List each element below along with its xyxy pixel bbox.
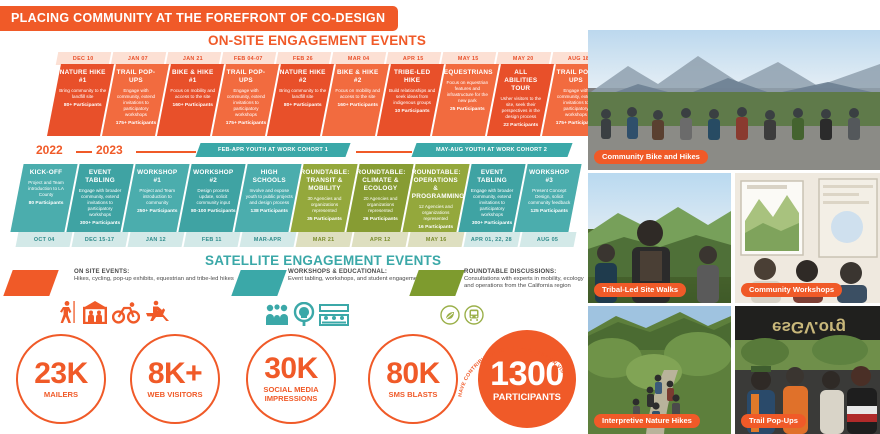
legend-heading-roundtable: ROUNDTABLE DISCUSSIONS: bbox=[464, 268, 590, 275]
satellite-date-label: MAY 16 bbox=[426, 237, 447, 243]
stat-label: PARTICIPANTS bbox=[493, 393, 561, 402]
event-card-description: Bring community to the landfill site bbox=[279, 88, 326, 100]
photo-community-bike-and-hikes: Community Bike and Hikes bbox=[588, 30, 880, 170]
satellite-date-chip: FEB 11 bbox=[184, 232, 241, 247]
stat-number: 8K+ bbox=[148, 359, 202, 389]
event-card-participants: 175+ Participants bbox=[222, 121, 269, 126]
stat-number: 30K bbox=[264, 354, 318, 384]
stat-circle: 23KMAILERS bbox=[16, 334, 106, 424]
photo-caption-3: Community Workshops bbox=[741, 283, 842, 298]
event-card-description: Bring community to the landfill site bbox=[59, 88, 106, 100]
stat-number: 80K bbox=[386, 359, 440, 389]
satellite-date-chip: APR 12 bbox=[352, 232, 409, 247]
hiker-icon bbox=[58, 300, 78, 324]
event-card-title: ALL ABILITIES TOUR bbox=[497, 69, 544, 93]
event-card-title: HIGH SCHOOLS bbox=[245, 169, 293, 185]
photo-gallery: Community Bike and Hikes Tribal-Led Site… bbox=[588, 30, 880, 434]
satellite-date-chip: MAR 21 bbox=[296, 232, 353, 247]
satellite-date-label: APR 12 bbox=[370, 237, 391, 243]
event-card-title: ROUNDTABLE: TRANSIT & MOBILITY bbox=[300, 169, 348, 193]
event-card-description: Design process update, solicit community… bbox=[189, 188, 237, 206]
event-card-participants: 160+ Participants bbox=[334, 103, 381, 108]
event-card-title: EQUESTRIANS bbox=[444, 69, 491, 77]
legend-swatch-roundtable bbox=[409, 270, 464, 296]
bicycle-icon bbox=[112, 302, 140, 324]
photo-caption-1: Community Bike and Hikes bbox=[594, 150, 708, 165]
onsite-date-label: MAR 04 bbox=[348, 56, 370, 62]
year-cohort-strip: 2022 2023 FEB-APR YOUTH AT WORK COHORT 1… bbox=[36, 142, 582, 160]
legend-body-roundtable: Consultations with experts in mobility, … bbox=[464, 276, 590, 291]
year-start-label: 2022 bbox=[36, 143, 63, 157]
event-card-participants: 300+ Participants bbox=[468, 221, 516, 226]
stat-circle: 8K+WEB VISITORS bbox=[130, 334, 220, 424]
event-card-title: TRIBE-LED HIKE bbox=[389, 69, 436, 85]
workshops-icon-strip bbox=[265, 302, 349, 326]
onsite-date-label: MAY 15 bbox=[458, 56, 479, 62]
onsite-date-label: DEC 10 bbox=[73, 56, 94, 62]
event-card-description: Project and Team introduction to LA Coun… bbox=[22, 180, 70, 198]
classroom-icon bbox=[319, 304, 349, 326]
event-card-description: Engage with broader community, extend in… bbox=[468, 188, 516, 218]
cohort-badge-1: FEB-APR YOUTH AT WORK COHORT 1 bbox=[195, 143, 350, 157]
event-card-participants: 35 Participants bbox=[300, 217, 348, 222]
photo-caption-5: Trail Pop-Ups bbox=[741, 414, 806, 429]
event-card-participants: 138 Participants bbox=[245, 209, 293, 214]
svg-text:esGV.org: esGV.org bbox=[772, 318, 846, 337]
stat-number: 1300 bbox=[490, 357, 564, 391]
stat-label: SOCIAL MEDIA IMPRESSIONS bbox=[248, 386, 334, 403]
event-card-description: Focus on mobility and access to the site bbox=[334, 88, 381, 100]
cohort-label-1: FEB-APR YOUTH AT WORK COHORT 1 bbox=[218, 147, 328, 153]
satellite-date-chip: DEC 15-17 bbox=[72, 232, 129, 247]
year-connector-line-1 bbox=[76, 151, 92, 153]
event-card-participants: 80+ Participants bbox=[279, 103, 326, 108]
satellite-date-label: JAN 12 bbox=[146, 237, 166, 243]
event-card-participants: 250+ Participants bbox=[133, 209, 181, 214]
stat-label: SMS BLASTS bbox=[389, 391, 438, 400]
timeline-panel: ON-SITE ENGAGEMENT EVENTS SATELLITE ENGA… bbox=[0, 0, 586, 434]
satellite-date-label: MAR 21 bbox=[313, 237, 335, 243]
satellite-event-row: KICK-OFFProject and Team introduction to… bbox=[17, 164, 577, 232]
satellite-date-chip: MAR-APR bbox=[240, 232, 297, 247]
event-card-description: Present Concept Design, solicit communit… bbox=[525, 188, 573, 206]
event-card-title: BIKE & HIKE #1 bbox=[169, 69, 216, 85]
event-card-participants: 22 Participants bbox=[497, 123, 544, 128]
event-card-participants: 300+ Participants bbox=[76, 221, 124, 226]
event-card-participants: 80+ Participants bbox=[59, 103, 106, 108]
onsite-date-label: MAY 20 bbox=[513, 56, 534, 62]
stat-label: WEB VISITORS bbox=[147, 391, 202, 400]
onsite-date-label: JAN 07 bbox=[128, 56, 148, 62]
event-card-title: WORKSHOP #2 bbox=[189, 169, 237, 185]
photo-caption-2: Tribal-Led Site Walks bbox=[594, 283, 686, 298]
event-card-title: WORKSHOP #1 bbox=[133, 169, 181, 185]
event-card-participants: 80 Participants bbox=[22, 201, 70, 206]
legend-swatch-onsite bbox=[3, 270, 58, 296]
onsite-event-row: NATURE HIKE #1Bring community to the lan… bbox=[54, 64, 604, 136]
year-connector-line-3 bbox=[356, 151, 412, 153]
stat-circle: 80KSMS BLASTS bbox=[368, 334, 458, 424]
event-card-participants: 80-100 Participants bbox=[189, 209, 237, 214]
event-card-description: 30 Agencies and organizations represente… bbox=[300, 196, 348, 214]
onsite-date-label: FEB 26 bbox=[293, 56, 313, 62]
idea-bulb-icon bbox=[293, 302, 315, 326]
photo-tribal-led-site-walks: Tribal-Led Site Walks bbox=[588, 173, 731, 303]
satellite-date-label: FEB 11 bbox=[202, 237, 222, 243]
event-card-participants: 125 Participants bbox=[525, 209, 573, 214]
satellite-event-card: WORKSHOP #3Present Concept Design, solic… bbox=[514, 164, 581, 232]
onsite-section-title: ON-SITE ENGAGEMENT EVENTS bbox=[208, 33, 426, 48]
photo-interpretive-nature-hikes: Interpretive Nature Hikes bbox=[588, 306, 731, 434]
satellite-date-label: MAR-APR bbox=[254, 237, 282, 243]
stat-label: MAILERS bbox=[44, 391, 78, 400]
event-card-description: 12 Agencies and organizations represente… bbox=[412, 204, 460, 222]
satellite-date-chip: OCT 04 bbox=[16, 232, 73, 247]
event-card-title: ROUNDTABLE: OPERATIONS & PROGRAMMING bbox=[412, 169, 460, 201]
photo-community-workshops: Community Workshops bbox=[735, 173, 880, 303]
event-card-description: 20 Agencies and organizations represente… bbox=[356, 196, 404, 214]
satellite-section-title: SATELLITE ENGAGEMENT EVENTS bbox=[205, 253, 441, 268]
satellite-date-chip: AUG 05 bbox=[520, 232, 577, 247]
year-end-label: 2023 bbox=[96, 143, 123, 157]
event-card-description: Focus on equestrian features and infrast… bbox=[444, 80, 491, 104]
satellite-date-chip: JAN 12 bbox=[128, 232, 185, 247]
event-card-title: NATURE HIKE #1 bbox=[59, 69, 106, 85]
event-card-title: TRAIL POP-UPS bbox=[112, 69, 159, 85]
event-card-participants: 175+ Participants bbox=[112, 121, 159, 126]
satellite-date-label: DEC 15-17 bbox=[85, 237, 114, 243]
people-group-icon bbox=[265, 304, 289, 326]
event-card-participants: 10 Participants bbox=[389, 109, 436, 114]
event-card-title: BIKE & HIKE #2 bbox=[334, 69, 381, 85]
event-card-description: Engage with broader community, extend in… bbox=[76, 188, 124, 218]
event-card-title: EVENT TABLING bbox=[468, 169, 516, 185]
year-connector-line-2 bbox=[136, 151, 196, 153]
cohort-badge-2: MAY-AUG YOUTH AT WORK COHORT 2 bbox=[411, 143, 572, 157]
event-card-description: Usher visitors to the site, seek their p… bbox=[497, 96, 544, 120]
leaf-circle-icon bbox=[440, 305, 460, 325]
event-card-title: EVENT TABLING bbox=[76, 169, 124, 185]
satellite-date-chip: MAY 16 bbox=[408, 232, 465, 247]
event-card-description: Project and Team introduction to communi… bbox=[133, 188, 181, 206]
onsite-date-label: AUG 18 bbox=[568, 56, 589, 62]
roundtable-icon-strip bbox=[440, 305, 484, 325]
infographic-root: PLACING COMMUNITY AT THE FOREFRONT OF CO… bbox=[0, 0, 880, 434]
event-card-description: Build relationships and seek ideas from … bbox=[389, 88, 436, 106]
photo-caption-4: Interpretive Nature Hikes bbox=[594, 414, 700, 429]
event-card-participants: 160+ Participants bbox=[169, 103, 216, 108]
event-card-participants: 25 Participants bbox=[444, 107, 491, 112]
legend-heading-onsite: ON SITE EVENTS: bbox=[74, 268, 234, 275]
event-card-description: Involve and expose youth to public proje… bbox=[245, 188, 293, 206]
satellite-date-label: OCT 04 bbox=[34, 237, 55, 243]
event-card-description: Focus on mobility and access to the site bbox=[169, 88, 216, 100]
transit-circle-icon bbox=[464, 305, 484, 325]
stat-circle: 1300PARTICIPANTS bbox=[478, 330, 576, 428]
pavilion-icon bbox=[82, 300, 108, 324]
legend-body-workshops: Event tabling, workshops, and student en… bbox=[288, 276, 422, 283]
equestrian-icon bbox=[144, 300, 170, 324]
event-card-description: Engage with community, extend invitation… bbox=[112, 88, 159, 118]
onsite-date-label: JAN 21 bbox=[183, 56, 203, 62]
onsite-icon-strip bbox=[58, 300, 170, 324]
satellite-date-row: OCT 04DEC 15-17JAN 12FEB 11MAR-APRMAR 21… bbox=[17, 232, 577, 247]
legend-swatch-workshops bbox=[231, 270, 286, 296]
legend-body-onsite: Hikes, cycling, pop-up exhibits, equestr… bbox=[74, 276, 234, 283]
event-card-title: KICK-OFF bbox=[22, 169, 70, 177]
stat-number: 23K bbox=[34, 359, 88, 389]
event-card-description: Engage with community, extend invitation… bbox=[222, 88, 269, 118]
event-card-title: WORKSHOP #3 bbox=[525, 169, 573, 185]
event-card-participants: 16 Participants bbox=[412, 225, 460, 230]
event-card-title: TRAIL POP-UPS bbox=[222, 69, 269, 85]
satellite-date-label: APR 01, 22, 28 bbox=[471, 237, 512, 243]
stat-circle: 30KSOCIAL MEDIA IMPRESSIONS bbox=[246, 334, 336, 424]
stats-row: 23KMAILERS8K+WEB VISITORS30KSOCIAL MEDIA… bbox=[8, 334, 586, 430]
onsite-date-label: APR 15 bbox=[403, 56, 424, 62]
event-card-participants: 26 Participants bbox=[356, 217, 404, 222]
satellite-date-chip: APR 01, 22, 28 bbox=[464, 232, 521, 247]
cohort-label-2: MAY-AUG YOUTH AT WORK COHORT 2 bbox=[436, 147, 547, 153]
event-card-title: ROUNDTABLE: CLIMATE & ECOLOGY bbox=[356, 169, 404, 193]
photo-trail-pop-ups: esGV.org T bbox=[735, 306, 880, 434]
legend-heading-workshops: WORKSHOPS & EDUCATIONAL: bbox=[288, 268, 422, 275]
event-card-title: NATURE HIKE #2 bbox=[279, 69, 326, 85]
onsite-date-label: FEB 04-07 bbox=[234, 56, 263, 62]
satellite-date-label: AUG 05 bbox=[537, 237, 558, 243]
